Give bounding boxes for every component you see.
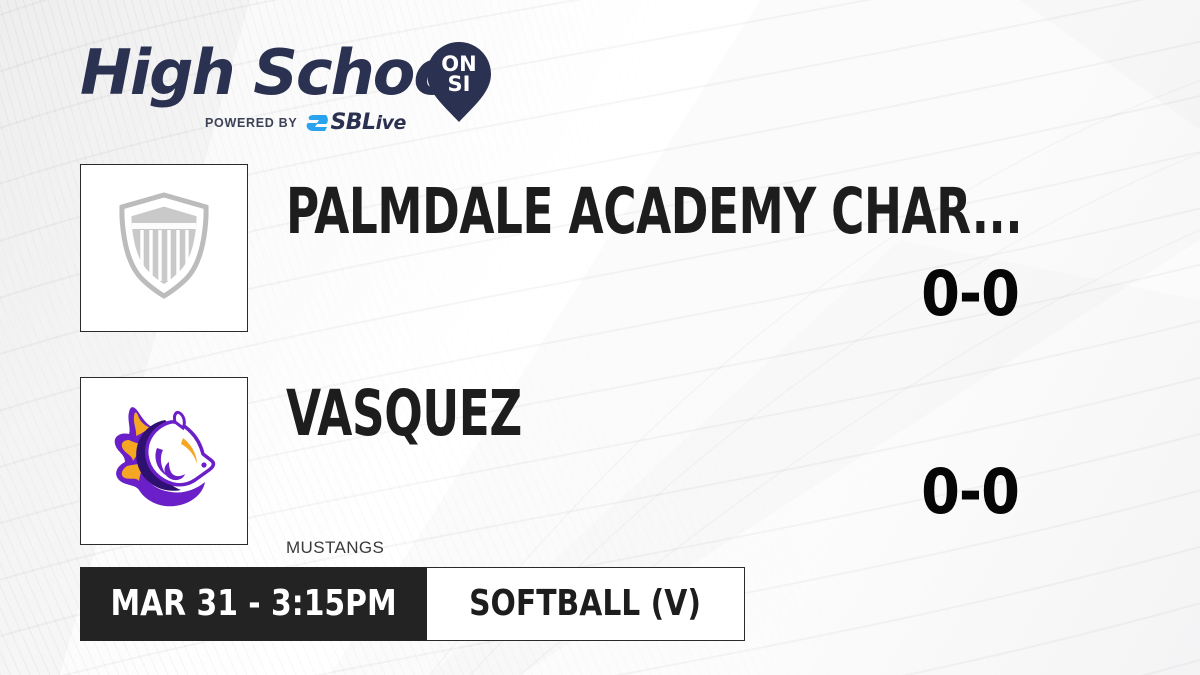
placeholder-shield-icon — [114, 191, 214, 306]
sblive-logo[interactable]: SBLive — [306, 112, 405, 134]
sblive-upper: SBL — [330, 110, 375, 135]
mustang-head-icon — [105, 404, 223, 519]
team-record: 0-0 — [860, 263, 1080, 325]
team-mascot-label: MUSTANGS — [286, 538, 384, 558]
game-sport-segment[interactable]: SOFTBALL (V) — [427, 567, 745, 641]
game-datetime-segment[interactable]: MAR 31 - 3:15PM — [80, 567, 427, 641]
sblive-wordmark: SBLive — [330, 112, 405, 134]
powered-by-label: POWERED BY — [205, 116, 297, 130]
team-name: VASQUEZ — [286, 382, 522, 445]
powered-by-row: POWERED BY SBLive — [205, 112, 406, 134]
team-logo-card[interactable] — [80, 377, 248, 545]
on-si-pin-label: ON SI — [426, 54, 492, 94]
brand-wordmark: High School — [80, 42, 473, 104]
sblive-lower: ive — [376, 112, 406, 134]
team-name: PALMDALE ACADEMY CHAR... — [286, 180, 1022, 243]
game-scorecard-graphic: High School ON SI POWERED BY SBLive — [0, 0, 1200, 675]
sblive-s-icon — [306, 113, 328, 133]
game-datetime-label: MAR 31 - 3:15PM — [110, 586, 396, 622]
pin-label-bottom: SI — [426, 74, 492, 94]
team-record: 0-0 — [860, 461, 1080, 523]
pin-label-top: ON — [426, 54, 492, 74]
game-info-bar: MAR 31 - 3:15PM SOFTBALL (V) — [80, 567, 745, 641]
game-sport-label: SOFTBALL (V) — [470, 586, 702, 622]
team-logo-card[interactable] — [80, 164, 248, 332]
brand-logo[interactable]: High School ON SI POWERED BY SBLive — [80, 34, 510, 134]
